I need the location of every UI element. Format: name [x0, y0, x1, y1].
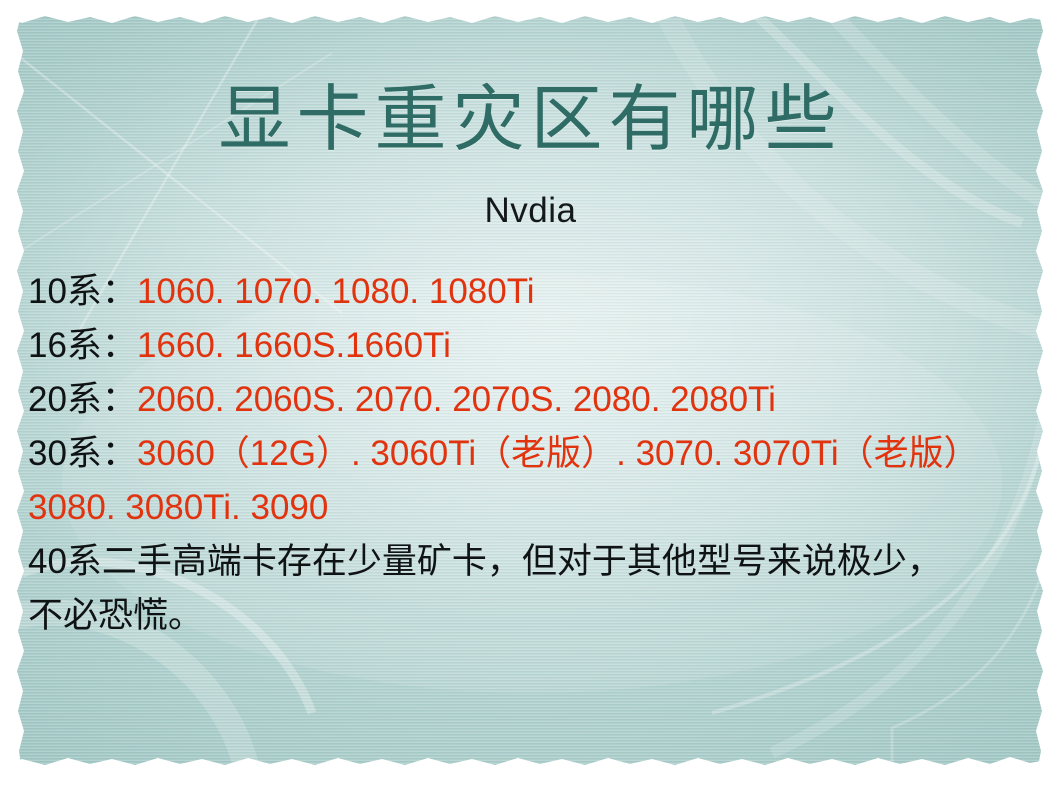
- slide-root: 显卡重灾区有哪些 Nvdia 10系：1060. 1070. 1080. 108…: [0, 0, 1061, 800]
- series-models-20: 2060. 2060S. 2070. 2070S. 2080. 2080Ti: [137, 380, 776, 419]
- series-models-30: 3060（12G）. 3060Ti（老版）. 3070. 3070Ti（老版）3…: [28, 434, 979, 527]
- list-item: 16系：1660. 1660S.1660Ti: [28, 319, 1038, 373]
- series-label-10: 10系：: [28, 272, 137, 311]
- series-models-16: 1660. 1660S.1660Ti: [137, 326, 451, 365]
- note-paragraph: 40系二手高端卡存在少量矿卡，但对于其他型号来说极少，不必恐慌。: [28, 535, 968, 643]
- list-item: 30系：3060（12G）. 3060Ti（老版）. 3070. 3070Ti（…: [28, 427, 1038, 535]
- list-item: 20系：2060. 2060S. 2070. 2070S. 2080. 2080…: [28, 373, 1038, 427]
- series-label-16: 16系：: [28, 326, 137, 365]
- page-title: 显卡重灾区有哪些: [12, 83, 1049, 155]
- list-item: 10系：1060. 1070. 1080. 1080Ti: [28, 265, 1038, 319]
- slide-canvas: 显卡重灾区有哪些 Nvdia 10系：1060. 1070. 1080. 108…: [12, 13, 1049, 770]
- series-models-10: 1060. 1070. 1080. 1080Ti: [137, 272, 535, 311]
- gpu-series-list: 10系：1060. 1070. 1080. 1080Ti 16系：1660. 1…: [28, 265, 1038, 643]
- series-label-20: 20系：: [28, 380, 137, 419]
- slide-content: 显卡重灾区有哪些 Nvdia 10系：1060. 1070. 1080. 108…: [12, 13, 1049, 770]
- series-label-30: 30系：: [28, 434, 137, 473]
- slide-subtitle: Nvdia: [12, 191, 1049, 231]
